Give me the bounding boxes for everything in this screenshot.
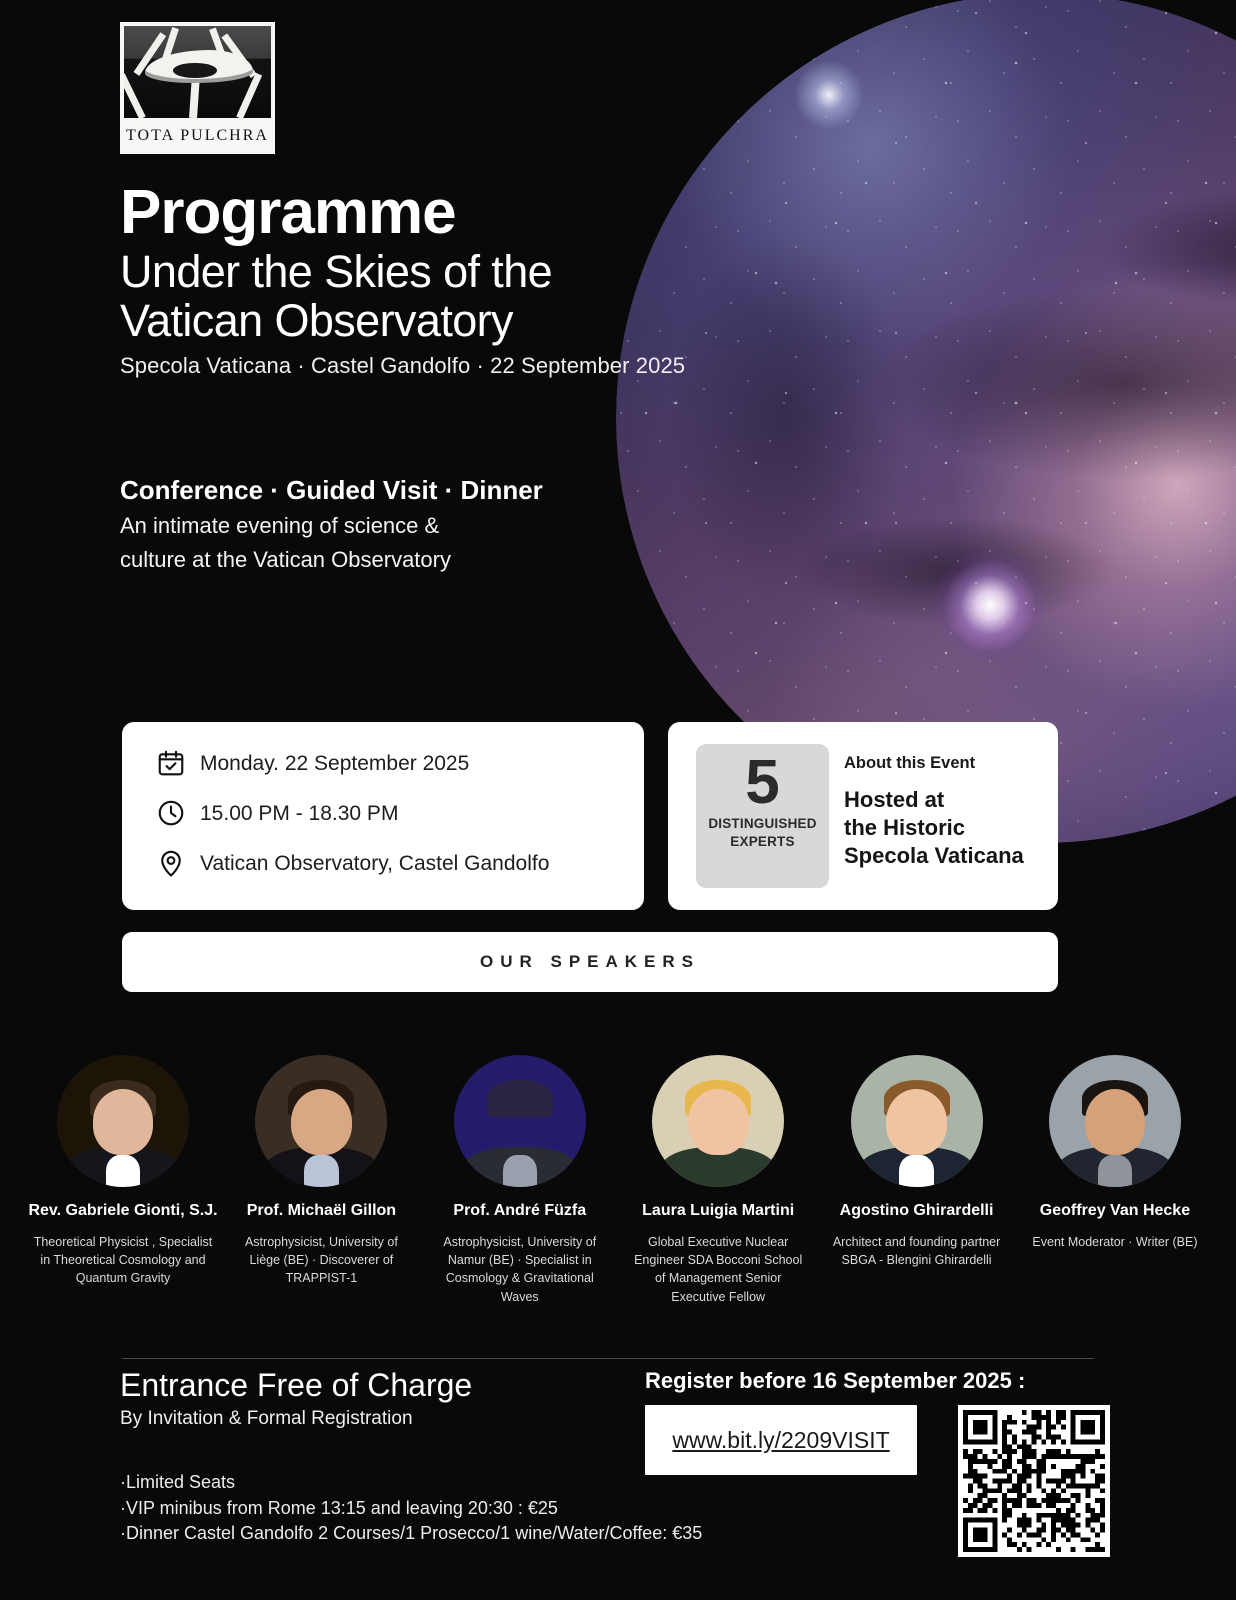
speaker-role: Architect and founding partner SBGA - Bl…: [822, 1233, 1012, 1269]
intro-title: Conference · Guided Visit · Dinner: [120, 474, 680, 507]
speaker-role: Theoretical Physicist , Specialist in Th…: [28, 1233, 218, 1287]
about-heading-line1: Hosted at: [844, 786, 1024, 814]
entrance-subheading: By Invitation & Formal Registration: [120, 1408, 660, 1431]
location-pin-icon: [156, 848, 186, 878]
speaker-name: Laura Luigia Martini: [623, 1201, 813, 1220]
speaker-card: Rev. Gabriele Gionti, S.J.Theoretical Ph…: [28, 1055, 218, 1306]
clasped-hands-woodcut-icon: [124, 26, 271, 118]
speaker-role: Event Moderator · Writer (BE): [1020, 1233, 1210, 1251]
speaker-card: Agostino GhirardelliArchitect and foundi…: [822, 1055, 1012, 1306]
experts-count-badge: 5 DISTINGUISHED EXPERTS: [696, 744, 829, 888]
galaxy-star-cluster: [794, 60, 864, 130]
intro-block: Conference · Guided Visit · Dinner An in…: [120, 474, 680, 575]
about-event-card: 5 DISTINGUISHED EXPERTS About this Event…: [668, 722, 1058, 910]
detail-location-text: Vatican Observatory, Castel Gandolfo: [200, 853, 549, 874]
about-heading-line2: the Historic: [844, 814, 1024, 842]
experts-count-number: 5: [745, 750, 779, 815]
tota-pulchra-logo: TOTA PULCHRA: [120, 22, 275, 154]
about-kicker: About this Event: [844, 754, 1024, 773]
speaker-photo: [652, 1055, 784, 1187]
detail-time-text: 15.00 PM - 18.30 PM: [200, 803, 398, 824]
entrance-heading: Entrance Free of Charge: [120, 1368, 660, 1404]
speaker-photo: [255, 1055, 387, 1187]
speaker-card: Prof. Michaël GillonAstrophysicist, Univ…: [226, 1055, 416, 1306]
speaker-card: Laura Luigia MartiniGlobal Executive Nuc…: [623, 1055, 813, 1306]
qr-code[interactable]: [958, 1405, 1110, 1557]
speaker-role: Global Executive Nuclear Engineer SDA Bo…: [623, 1233, 813, 1306]
our-speakers-label: OUR SPEAKERS: [480, 952, 700, 972]
event-details-card: Monday. 22 September 2025 15.00 PM - 18.…: [122, 722, 644, 910]
entrance-block: Entrance Free of Charge By Invitation & …: [120, 1368, 660, 1431]
speaker-name: Prof. André Füzfa: [425, 1201, 615, 1220]
speaker-name: Prof. Michaël Gillon: [226, 1201, 416, 1220]
register-title: Register before 16 September 2025 :: [645, 1368, 1115, 1394]
event-meta-line: Specola Vaticana · Castel Gandolfo · 22 …: [120, 353, 760, 379]
clock-icon: [156, 798, 186, 828]
galaxy-circle-image: [616, 0, 1236, 843]
calendar-check-icon: [156, 748, 186, 778]
headline-block: Programme Under the Skies of the Vatican…: [120, 182, 760, 379]
registration-url-box[interactable]: www.bit.ly/2209VISIT: [645, 1405, 917, 1475]
about-heading-line3: Specola Vaticana: [844, 842, 1024, 870]
poster-root: TOTA PULCHRA Programme Under the Skies o…: [0, 0, 1236, 1600]
our-speakers-banner: OUR SPEAKERS: [122, 932, 1058, 992]
intro-description-line1: An intimate evening of science &: [120, 510, 680, 541]
speaker-name: Geoffrey Van Hecke: [1020, 1201, 1210, 1220]
speaker-name: Agostino Ghirardelli: [822, 1201, 1012, 1220]
detail-row-location: Vatican Observatory, Castel Gandolfo: [156, 848, 644, 878]
experts-badge-line1: DISTINGUISHED: [708, 815, 816, 833]
detail-row-time: 15.00 PM - 18.30 PM: [156, 798, 644, 828]
logo-wordmark: TOTA PULCHRA: [124, 118, 271, 154]
detail-row-date: Monday. 22 September 2025: [156, 748, 644, 778]
page-title: Programme: [120, 182, 760, 244]
speakers-grid: Rev. Gabriele Gionti, S.J.Theoretical Ph…: [28, 1055, 1210, 1306]
speaker-photo: [851, 1055, 983, 1187]
speaker-photo: [57, 1055, 189, 1187]
registration-url[interactable]: www.bit.ly/2209VISIT: [672, 1427, 889, 1454]
galaxy-bright-core: [935, 550, 1045, 660]
speaker-card: Prof. André FüzfaAstrophysicist, Univers…: [425, 1055, 615, 1306]
speaker-photo: [454, 1055, 586, 1187]
registration-block: Register before 16 September 2025 : www.…: [645, 1368, 1115, 1557]
experts-badge-line2: EXPERTS: [730, 833, 794, 851]
speaker-role: Astrophysicist, University of Liège (BE)…: [226, 1233, 416, 1287]
galaxy-stars-bright: [616, 0, 1236, 843]
intro-description-line2: culture at the Vatican Observatory: [120, 544, 680, 575]
page-subtitle-line1: Under the Skies of the: [120, 248, 760, 297]
footer-divider: [122, 1358, 1094, 1359]
speaker-role: Astrophysicist, University of Namur (BE)…: [425, 1233, 615, 1306]
page-subtitle-line2: Vatican Observatory: [120, 297, 760, 346]
detail-date-text: Monday. 22 September 2025: [200, 753, 469, 774]
speaker-card: Geoffrey Van HeckeEvent Moderator · Writ…: [1020, 1055, 1210, 1306]
speaker-name: Rev. Gabriele Gionti, S.J.: [28, 1201, 218, 1220]
speaker-photo: [1049, 1055, 1181, 1187]
